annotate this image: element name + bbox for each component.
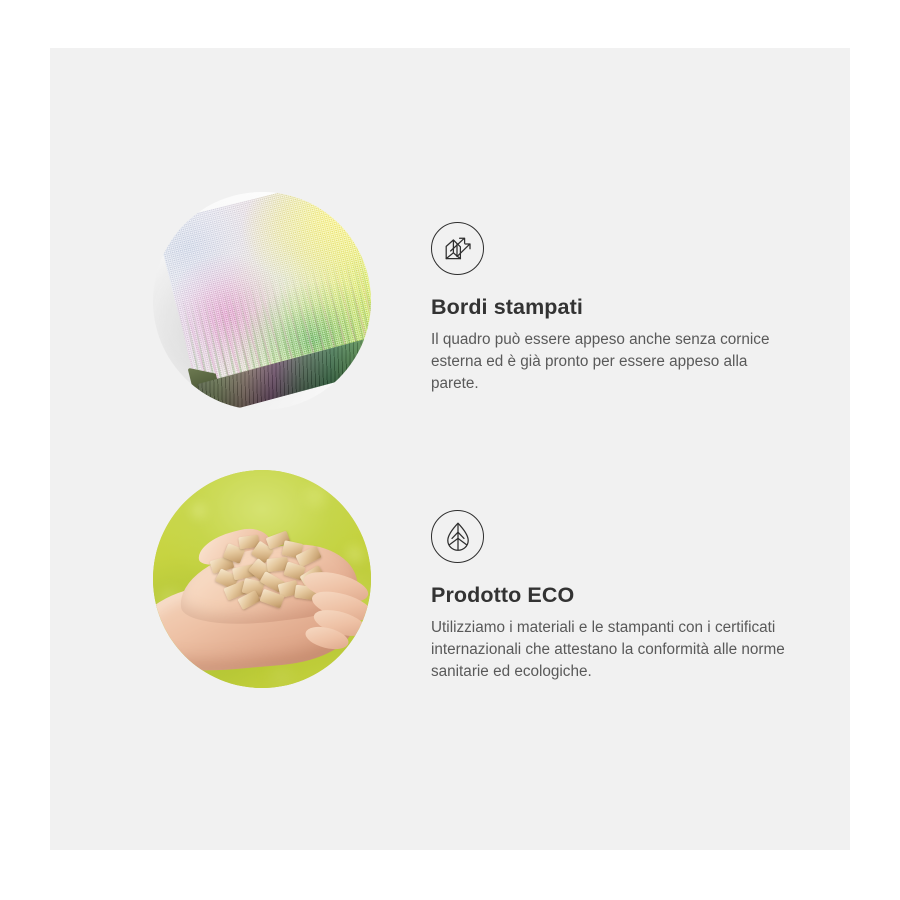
feature-text-eco-product: Prodotto ECO Utilizziamo i materiali e l… (431, 510, 811, 683)
product-feature-page: Bordi stampati Il quadro può essere appe… (0, 0, 900, 900)
feature-description: Il quadro può essere appeso anche senza … (431, 329, 793, 396)
canvas-print-object (153, 192, 371, 410)
leaf-icon (431, 510, 484, 563)
feature-description: Utilizziamo i materiali e le stampanti c… (431, 617, 793, 684)
feature-title: Bordi stampati (431, 295, 811, 321)
canvas-wrapped-edges-icon (431, 222, 484, 275)
feature-title: Prodotto ECO (431, 583, 811, 609)
content-panel: Bordi stampati Il quadro può essere appe… (50, 48, 850, 850)
hands-with-wood-chips-photo (153, 470, 371, 688)
feature-text-printed-edges: Bordi stampati Il quadro può essere appe… (431, 222, 811, 395)
canvas-corner-photo (153, 192, 371, 410)
